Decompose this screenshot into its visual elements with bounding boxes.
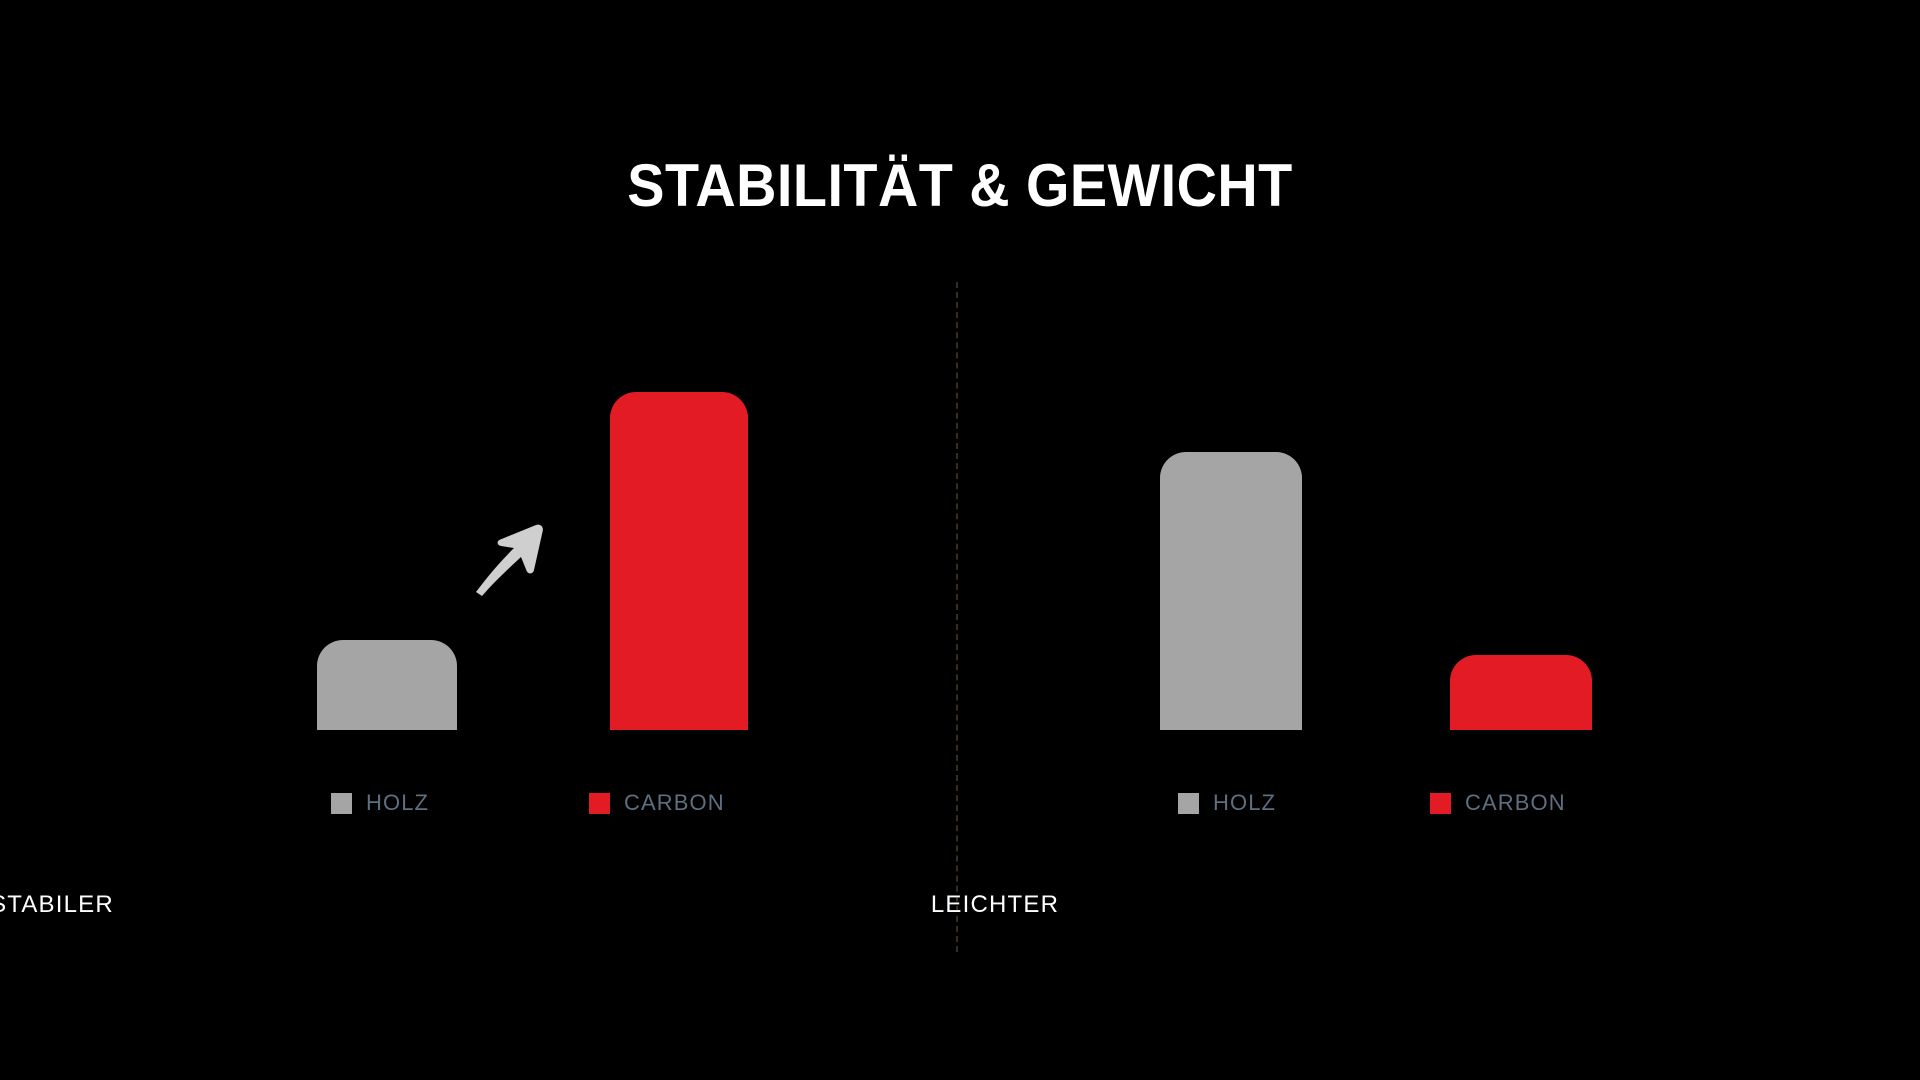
legend-label-holz: HOLZ — [366, 792, 429, 814]
arrow-up-right-icon — [470, 512, 556, 598]
legend-swatch-carbon — [1430, 793, 1451, 814]
bar-carbon-weight — [1450, 655, 1592, 730]
legend-label-carbon: CARBON — [1465, 792, 1566, 814]
legend-item-holz: HOLZ — [331, 792, 429, 814]
legend-swatch-holz — [331, 793, 352, 814]
bar-chart-stability — [0, 0, 960, 1080]
legend-swatch-carbon — [589, 793, 610, 814]
legend-swatch-holz — [1178, 793, 1199, 814]
legend-item-carbon: CARBON — [589, 792, 725, 814]
bar-holz-stability — [317, 640, 457, 730]
legend-item-holz: HOLZ — [1178, 792, 1276, 814]
panel-stability: HOLZ CARBON STABILER — [0, 0, 960, 1080]
caption-stability: STABILER — [0, 893, 532, 917]
bar-chart-weight — [960, 0, 1920, 1080]
bar-holz-weight — [1160, 452, 1302, 730]
panel-weight: HOLZ CARBON LEICHTER — [960, 0, 1920, 1080]
legend-label-carbon: CARBON — [624, 792, 725, 814]
legend-label-holz: HOLZ — [1213, 792, 1276, 814]
caption-weight: LEICHTER — [515, 893, 1475, 917]
legend-item-carbon: CARBON — [1430, 792, 1566, 814]
bar-carbon-stability — [610, 392, 748, 730]
infographic-canvas: STABILITÄT & GEWICHT HOLZ CARBON — [0, 0, 1920, 1080]
